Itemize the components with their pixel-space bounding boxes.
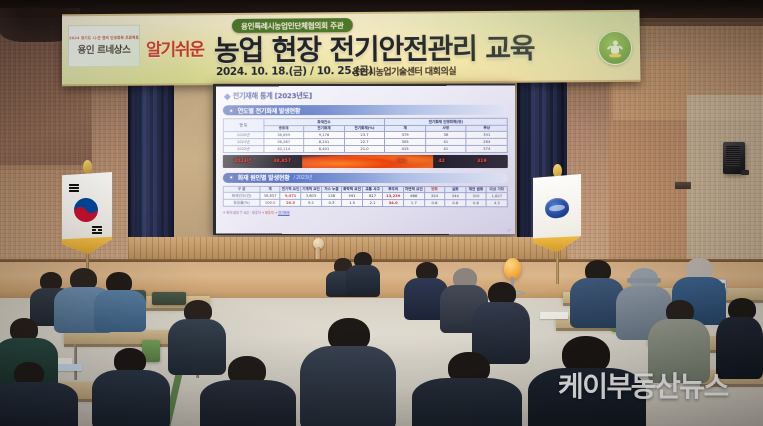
logo-top-text: 2024 경기도 시·군 협력 민생회복 프로젝트 — [69, 36, 139, 42]
seminar-photo: 2024 경기도 시·군 협력 민생회복 프로젝트 용인 르네상스 용인특례시농… — [0, 0, 763, 426]
th-sum: 계 — [384, 125, 425, 132]
th-death: 사망 — [425, 125, 466, 132]
city-emblem-icon — [544, 196, 571, 219]
flagpole-finial-right — [553, 164, 562, 177]
slide-section2-subheading: / 2023년 — [293, 174, 311, 181]
taeguk-symbol-icon — [70, 194, 102, 226]
yongin-city-flag — [533, 174, 581, 252]
th-total-fires: 총화재 — [263, 125, 303, 132]
audience-member-foreground — [300, 318, 396, 426]
section-dot-icon — [228, 175, 233, 180]
annual-electrical-fire-table: 연 도 화재건수 전기화재 인명피해(명) 총화재 전기화재 전기화재(%) 계… — [222, 117, 507, 152]
person-torso — [200, 380, 296, 426]
banner-dates: 2024. 10. 18.(금) / 10. 25.(금) — [216, 63, 373, 79]
slide-section2-bar: 화재 원인별 발생현황 / 2023년 — [222, 172, 507, 182]
table-row: 2020년 38,659 9,176 23.7 379 38 341 — [223, 131, 507, 138]
event-banner: 2024 경기도 시·군 협력 민생회복 프로젝트 용인 르네상스 용인특례시농… — [62, 10, 641, 87]
slide-page-number: 17 — [506, 228, 510, 232]
person-torso — [300, 346, 396, 426]
cap-brim — [627, 278, 661, 283]
footnote-prefix: ※ 화재 발생 주 요인 : 부주의 → — [222, 210, 264, 214]
audience-member — [0, 362, 74, 426]
banner-prefix: 알기쉬운 — [146, 35, 204, 60]
table-subheader-row: 총화재 전기화재 전기화재(%) 계 사망 부상 — [223, 124, 507, 131]
stage-balloon-decoration — [504, 258, 521, 279]
agriculture-emblem-icon — [598, 31, 633, 65]
projection-screen: 전기재해 통계 [2023년도] 연도별 전기화재 발생현황 연 도 화재건수 … — [215, 85, 514, 234]
audience-member — [94, 272, 146, 328]
audience-member — [716, 298, 763, 374]
flagpole-finial-left — [83, 160, 92, 173]
section-dot-icon — [228, 107, 233, 112]
south-korea-flag — [62, 172, 112, 254]
th-fire-count: 화재건수 — [263, 118, 384, 125]
fire-cause-table: 구 분 계 전기적 요인 기계적 요인 가스 누출 화학적 요인 교통 사고 부… — [222, 185, 507, 207]
audience-member-foreground — [200, 356, 296, 426]
audience-member — [92, 348, 170, 426]
th-year: 연 도 — [223, 118, 263, 131]
table-header-row: 구 분 계 전기적 요인 기계적 요인 가스 누출 화학적 요인 교통 사고 부… — [223, 186, 507, 193]
news-watermark: 케이부동산뉴스 — [558, 368, 758, 402]
slide-title: 전기재해 통계 [2023년도] — [232, 91, 311, 101]
person-torso — [346, 265, 380, 297]
audience-member-foreground — [412, 352, 522, 426]
yongin-renaissance-logo: 2024 경기도 시·군 협력 민생회복 프로젝트 용인 르네상스 — [68, 25, 140, 68]
table-row: 점유율(%) 100.0 24.3 9.2 0.3 1.5 2.1 34.0 1… — [223, 199, 507, 206]
table-row: 화재건수(건) 38,857 9,471 3,603 138 591 817 1… — [223, 192, 507, 199]
slide-section2-heading: 화재 원인별 발생현황 — [237, 173, 289, 182]
banner-venue: 용인시농업기술센터 대회의실 — [352, 64, 456, 78]
slide-footnote: ※ 화재 발생 주 요인 : 부주의 → 부주의 → 전기화재 — [222, 209, 507, 215]
presentation-slide: 전기재해 통계 [2023년도] 연도별 전기화재 발생현황 연 도 화재건수 … — [215, 85, 514, 234]
th-casualties: 전기화재 인명피해(명) — [384, 118, 507, 125]
person-torso — [92, 370, 170, 426]
audience-member — [346, 252, 380, 292]
speaker-mount-arm — [741, 170, 749, 175]
audience-member — [472, 282, 530, 358]
table-header-row: 연 도 화재건수 전기화재 인명피해(명) — [223, 118, 507, 125]
projection-screen-frame: 전기재해 통계 [2023년도] 연도별 전기화재 발생현황 연 도 화재건수 … — [213, 84, 515, 235]
slide-title-row: 전기재해 통계 [2023년도] — [224, 90, 507, 101]
footnote-red: 부주의 — [264, 210, 273, 214]
th-elec-fires: 전기화재 — [303, 125, 343, 132]
th-injury: 부상 — [466, 124, 507, 131]
table-row: 2021년 36,267 8,241 22.7 305 41 264 — [223, 138, 507, 145]
handout-paper — [540, 312, 568, 319]
highlighted-2023-row: 2023년 38,857 9,440 24.3 361 42 319 — [222, 154, 507, 167]
person-torso — [412, 378, 522, 426]
footnote-blue: 전기화재 — [277, 210, 289, 214]
slide-section1-heading: 연도별 전기화재 발생현황 — [237, 105, 300, 114]
person-torso — [94, 290, 146, 332]
slide-section1-bar: 연도별 전기화재 발생현황 — [222, 104, 507, 115]
diamond-bullet-icon — [223, 92, 230, 99]
logo-main-text: 용인 르네상스 — [78, 42, 131, 56]
table-row: 2022년 40,114 8,401 21.0 415 41 374 — [223, 145, 507, 152]
th-elec-pct: 전기화재(%) — [344, 125, 385, 132]
person-torso — [0, 382, 78, 426]
wall-vent — [675, 182, 691, 189]
